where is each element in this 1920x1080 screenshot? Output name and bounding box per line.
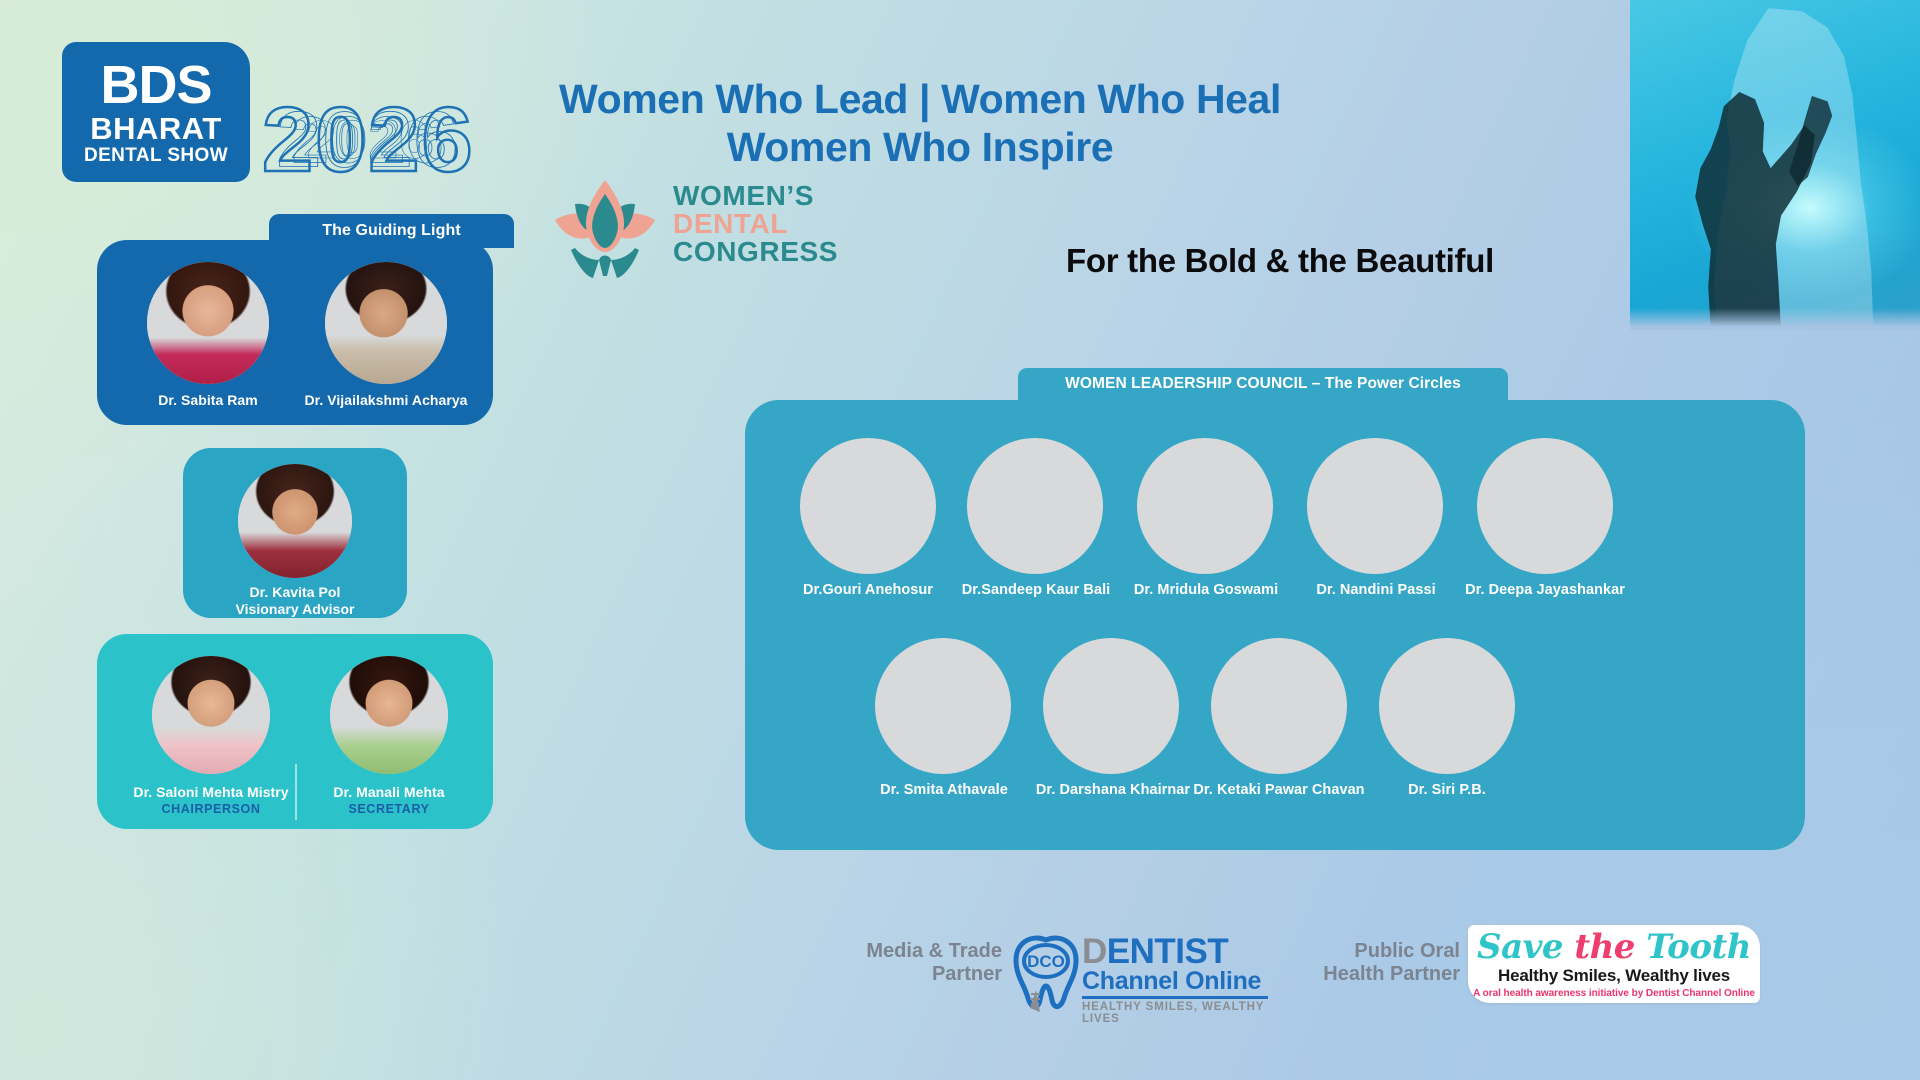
health-partner-label-line-1: Public Oral	[1280, 940, 1460, 963]
event-year: 2026 2026 2026 2026	[262, 88, 475, 193]
womens-dental-congress-logo: WOMEN’S DENTAL CONGRESS	[545, 168, 845, 280]
council-member-name: Dr. Siri P.B.	[1365, 782, 1529, 798]
council-member-name: Dr. Nandini Passi	[1288, 582, 1464, 598]
save-the-tooth-logo: Save the Tooth Healthy Smiles, Wealthy l…	[1468, 925, 1760, 1003]
executive-role: SECRETARY	[299, 802, 479, 818]
avatar	[330, 656, 448, 774]
event-year-ring-4: 2026	[307, 110, 430, 171]
congress-logo-line-3: CONGRESS	[673, 238, 838, 266]
council-member-name: Dr. Ketaki Pawar Chavan	[1175, 782, 1383, 798]
headline-line-2: Women Who Inspire	[540, 124, 1300, 172]
hero-image-woman-silhouette	[1630, 0, 1920, 330]
health-partner-label-line-2: Health Partner	[1280, 963, 1460, 986]
dco-name-line: DENTIST	[1082, 936, 1268, 968]
headline-line-1: Women Who Lead | Women Who Heal	[540, 76, 1300, 124]
council-tab: WOMEN LEADERSHIP COUNCIL – The Power Cir…	[1018, 368, 1508, 400]
bds-logo-dental-show: DENTAL SHOW	[84, 146, 228, 167]
avatar	[1211, 638, 1347, 774]
executive-role: CHAIRPERSON	[117, 802, 305, 818]
dco-name-initial: D	[1082, 932, 1107, 971]
council-member-name: Dr.Sandeep Kaur Bali	[941, 582, 1131, 598]
congress-logo-line-1: WOMEN’S	[673, 182, 838, 210]
executive-name: Dr. Manali Mehta	[299, 784, 479, 802]
dco-subtitle: Channel Online	[1082, 969, 1268, 994]
women-leadership-council-panel: Dr.Gouri Anehosur Dr.Sandeep Kaur Bali D…	[745, 400, 1805, 850]
avatar-photo	[147, 262, 269, 384]
dco-strapline: HEALTHY SMILES, WEALTHY LIVES	[1082, 1001, 1268, 1025]
bds-logo-top-row: BDS	[100, 61, 211, 111]
public-oral-health-partner-label: Public Oral Health Partner	[1280, 940, 1460, 986]
media-partner-label-line-1: Media & Trade	[830, 940, 1002, 963]
dco-divider	[1082, 996, 1268, 999]
council-member-name: Dr. Smita Athavale	[853, 782, 1035, 798]
avatar	[1379, 638, 1515, 774]
executive-officers-card: Dr. Saloni Mehta Mistry CHAIRPERSON Dr. …	[97, 634, 493, 829]
media-trade-partner-label: Media & Trade Partner	[830, 940, 1002, 986]
visionary-advisor-card: Dr. Kavita Pol Visionary Advisor	[183, 448, 407, 618]
avatar	[238, 464, 352, 578]
visionary-advisor-name: Dr. Kavita Pol	[195, 584, 395, 602]
guiding-light-tab-label: The Guiding Light	[322, 222, 461, 240]
council-member-name: Dr.Gouri Anehosur	[775, 582, 961, 598]
dco-name-rest: ENTIST	[1107, 932, 1228, 971]
lotus-mark-icon	[545, 168, 665, 280]
dentist-channel-online-logo: DCO DENTIST Channel Online HEALTHY SMILE…	[1010, 930, 1265, 1022]
visionary-advisor-title: Visionary Advisor	[195, 601, 395, 619]
event-headline: Women Who Lead | Women Who Heal Women Wh…	[540, 76, 1300, 171]
stt-word-the: the	[1574, 927, 1635, 967]
avatar	[1137, 438, 1273, 574]
bds-logo-acronym: BDS	[100, 61, 211, 111]
guiding-light-name: Dr. Sabita Ram	[127, 392, 289, 410]
guiding-light-card: The Guiding Light Dr. Sabita Ram Dr. Vij…	[97, 240, 493, 425]
hero-fade-overlay	[1630, 308, 1920, 330]
avatar-photo	[238, 464, 352, 578]
executive-name: Dr. Saloni Mehta Mistry	[117, 784, 305, 802]
council-member-name: Dr. Mridula Goswami	[1108, 582, 1304, 598]
save-the-tooth-wordmark: Save the Tooth	[1477, 930, 1751, 964]
bds-logo-bharat: BHARAT	[90, 113, 222, 146]
event-tagline: For the Bold & the Beautiful	[1040, 242, 1520, 280]
media-partner-label-line-2: Partner	[830, 963, 1002, 986]
council-member-name: Dr. Deepa Jayashankar	[1445, 582, 1645, 598]
avatar	[1477, 438, 1613, 574]
stt-word-tooth: Tooth	[1646, 927, 1751, 967]
avatar	[875, 638, 1011, 774]
congress-logo-line-2: DENTAL	[673, 210, 838, 238]
avatar-photo	[330, 656, 448, 774]
avatar	[1307, 438, 1443, 574]
dco-wordmark: DENTIST Channel Online HEALTHY SMILES, W…	[1082, 936, 1268, 1025]
dco-tooth-icon: DCO	[1010, 934, 1082, 1014]
congress-logo-text: WOMEN’S DENTAL CONGRESS	[673, 182, 838, 265]
avatar	[152, 656, 270, 774]
save-the-tooth-initiative-note: A oral health awareness initiative by De…	[1473, 988, 1755, 999]
svg-text:DCO: DCO	[1027, 952, 1065, 971]
council-tab-label: WOMEN LEADERSHIP COUNCIL – The Power Cir…	[1065, 375, 1461, 393]
guiding-light-tab: The Guiding Light	[269, 214, 514, 248]
guiding-light-name: Dr. Vijailakshmi Acharya	[300, 392, 472, 410]
avatar	[325, 262, 447, 384]
avatar	[1043, 638, 1179, 774]
avatar	[800, 438, 936, 574]
stt-word-save: Save	[1477, 927, 1563, 967]
bds-logo: BDS BHARAT DENTAL SHOW	[62, 42, 250, 182]
avatar-photo	[325, 262, 447, 384]
avatar	[967, 438, 1103, 574]
save-the-tooth-tagline: Healthy Smiles, Wealthy lives	[1498, 966, 1730, 986]
avatar	[147, 262, 269, 384]
avatar-photo	[152, 656, 270, 774]
